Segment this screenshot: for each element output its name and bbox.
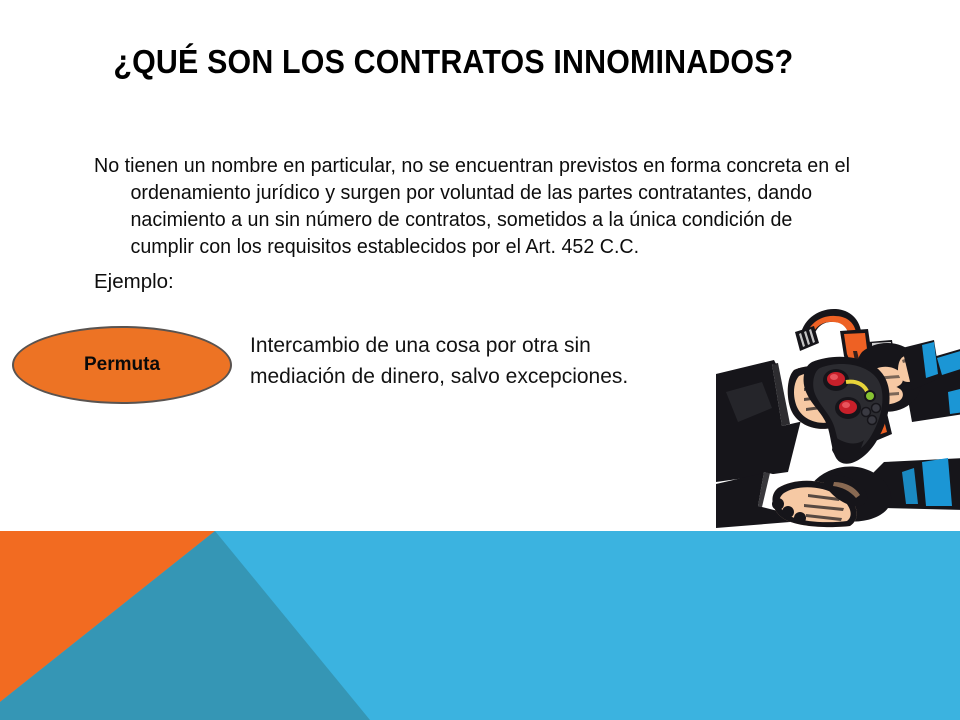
page-title: ¿QUÉ SON LOS CONTRATOS INNOMINADOS? xyxy=(90,44,817,81)
definition-line-1: Intercambio de una cosa por otra sin xyxy=(250,330,680,361)
permuta-ellipse-shape[interactable]: Permuta xyxy=(12,326,232,404)
slide-canvas: ¿QUÉ SON LOS CONTRATOS INNOMINADOS? No t… xyxy=(0,0,960,720)
definition-line-2: mediación de dinero, salvo excepciones. xyxy=(250,361,680,392)
permuta-definition: Intercambio de una cosa por otra sin med… xyxy=(250,330,680,392)
handshake-barter-illustration: .ol { fill:#16151a; } .sk { fill:#F6C9A4… xyxy=(716,296,960,528)
example-label: Ejemplo: xyxy=(94,268,174,295)
body-paragraph-text: No tienen un nombre en particular, no se… xyxy=(94,152,852,260)
body-paragraph: No tienen un nombre en particular, no se… xyxy=(56,152,884,260)
bottom-decorative-band xyxy=(0,531,960,720)
permuta-label: Permuta xyxy=(12,354,232,376)
